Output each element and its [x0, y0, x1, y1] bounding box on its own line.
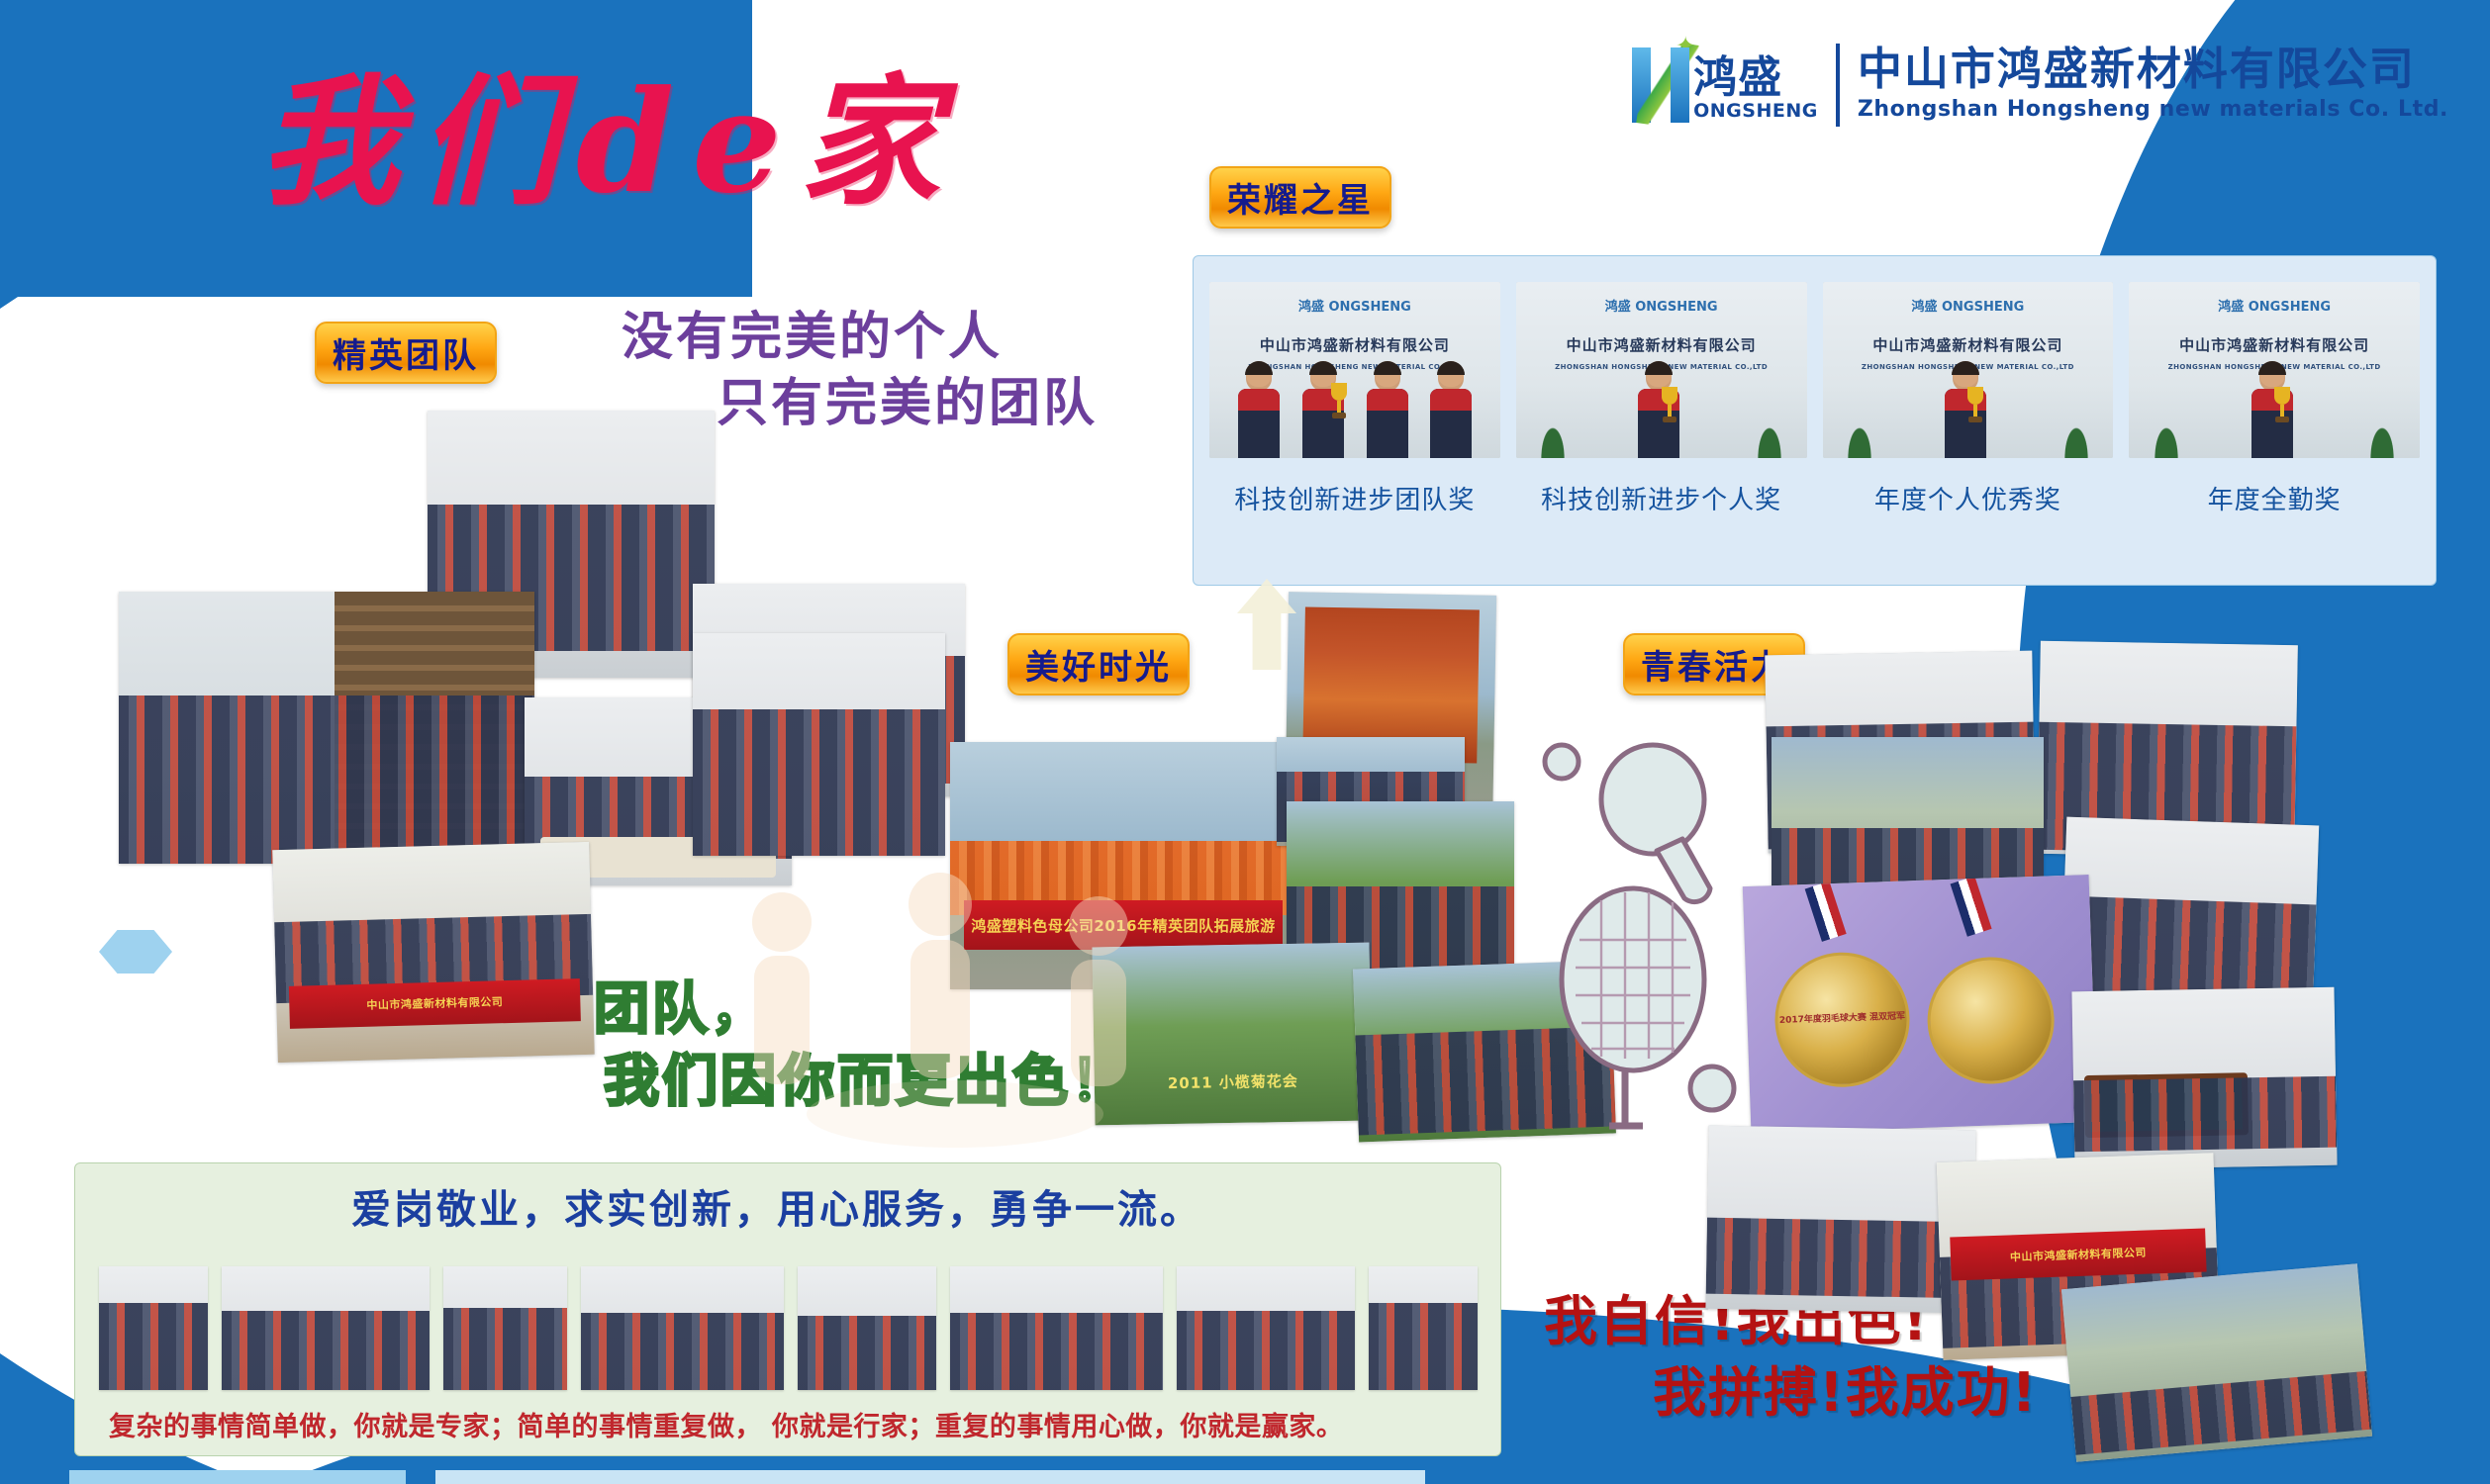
- work-photo-1[interactable]: [222, 1266, 430, 1390]
- trophy-icon: [1662, 387, 1677, 424]
- trophy-icon: [1967, 387, 1983, 424]
- photo-team-group-smile[interactable]: [693, 633, 945, 856]
- company-name-cn: 中山市鸿盛新材料有限公司: [1858, 45, 2448, 94]
- work-photo-6[interactable]: [1177, 1266, 1355, 1390]
- photo-company-banner-group[interactable]: 中山市鸿盛新材料有限公司: [272, 842, 595, 1063]
- work-photo-strip: [99, 1258, 1484, 1397]
- work-photo-0[interactable]: [99, 1266, 208, 1390]
- wall-logo-text: 鸿盛 ONGSHENG: [1605, 296, 1718, 315]
- employee-figure: [1238, 361, 1280, 458]
- photo-group-outdoor-b[interactable]: [1353, 961, 1616, 1143]
- photo-conference-room[interactable]: [1705, 1126, 1975, 1314]
- photo-banner-text: 中山市鸿盛新材料有限公司: [289, 978, 581, 1029]
- wall-company-cn: 中山市鸿盛新材料有限公司: [1260, 334, 1450, 355]
- wall-company-en: ZHONGSHAN HONGSHENG NEW MATERIAL CO.,LTD: [1248, 363, 1461, 371]
- company-logo-block: ✦ 鸿盛 ONGSHENG 中山市鸿盛新材料有限公司 Zhongshan Hon…: [1632, 44, 2448, 127]
- award-photo-1: 鸿盛 ONGSHENG 中山市鸿盛新材料有限公司 ZHONGSHAN HONGS…: [1516, 282, 1807, 458]
- work-photo-2[interactable]: [443, 1266, 567, 1390]
- wall-logo-text: 鸿盛 ONGSHENG: [2218, 296, 2331, 315]
- award-caption-3: 年度全勤奖: [2208, 480, 2342, 516]
- photo-employees-redenvelope[interactable]: [119, 592, 534, 864]
- logo-h-shape-icon: ✦: [1632, 47, 1689, 123]
- hongsheng-logo-icon: ✦ 鸿盛 ONGSHENG: [1632, 47, 1818, 123]
- work-photo-4[interactable]: [798, 1266, 936, 1390]
- honor-award-item-2[interactable]: 鸿盛 ONGSHENG 中山市鸿盛新材料有限公司 ZHONGSHAN HONGS…: [1823, 282, 2114, 585]
- green-quote-line1: 团队，: [594, 977, 769, 1042]
- page-title: 我们de家: [259, 28, 958, 232]
- photo-banner-travel: 鸿盛塑料色母公司2016年精英团队拓展旅游: [964, 900, 1283, 950]
- medal-caption: 2017年度羽毛球大赛 混双冠军: [1779, 1013, 1905, 1027]
- logo-chinese-name: 鸿盛: [1693, 56, 1818, 100]
- photo-outdoor-badminton[interactable]: [2061, 1263, 2372, 1461]
- section-badge-honor-star[interactable]: 荣耀之星: [1209, 166, 1391, 229]
- logo-divider: [1836, 44, 1840, 127]
- bottom-slogan: 爱岗敬业，求实创新，用心服务，勇争一流。: [351, 1177, 1202, 1235]
- section-badge-elite-team[interactable]: 精英团队: [315, 322, 497, 384]
- award-caption-0: 科技创新进步团队奖: [1234, 480, 1475, 516]
- trophy-icon: [2274, 387, 2290, 424]
- award-photo-0: 鸿盛 ONGSHENG 中山市鸿盛新材料有限公司 ZHONGSHAN HONGS…: [1209, 282, 1500, 458]
- bottom-caption: 复杂的事情简单做，你就是专家；简单的事情重复做， 你就是行家；重复的事情用心做，…: [109, 1405, 1343, 1443]
- wall-company-cn: 中山市鸿盛新材料有限公司: [1567, 334, 1757, 355]
- work-photo-5[interactable]: [950, 1266, 1163, 1390]
- award-caption-2: 年度个人优秀奖: [1874, 480, 2061, 516]
- photo-billiards-room[interactable]: [2071, 987, 2337, 1170]
- logo-english-name: ONGSHENG: [1693, 100, 1818, 123]
- wall-company-cn: 中山市鸿盛新材料有限公司: [2179, 334, 2369, 355]
- work-photo-3[interactable]: [581, 1266, 784, 1390]
- honor-star-panel: 鸿盛 ONGSHENG 中山市鸿盛新材料有限公司 ZHONGSHAN HONGS…: [1193, 255, 2437, 586]
- photo-flower-show[interactable]: 2011 小榄菊花会: [1092, 943, 1372, 1126]
- wall-company-cn: 中山市鸿盛新材料有限公司: [1872, 334, 2062, 355]
- green-quote: 团队， 我们因你而更出色！: [594, 974, 1129, 1119]
- award-photo-2: 鸿盛 ONGSHENG 中山市鸿盛新材料有限公司 ZHONGSHAN HONGS…: [1823, 282, 2114, 458]
- red-quote-line2: 我拼搏!我成功!: [1544, 1357, 2038, 1429]
- bottom-strip-accent-2: [435, 1470, 1425, 1484]
- wall-logo-text: 鸿盛 ONGSHENG: [1911, 296, 2024, 315]
- employee-figure: [1367, 361, 1408, 458]
- flower-show-text: 2011 小榄菊花会: [1094, 1039, 1372, 1126]
- honor-award-row: 鸿盛 ONGSHENG 中山市鸿盛新材料有限公司 ZHONGSHAN HONGS…: [1194, 256, 2436, 585]
- award-caption-1: 科技创新进步个人奖: [1541, 480, 1781, 516]
- bottom-strip-accent-1: [69, 1470, 406, 1484]
- company-name-en: Zhongshan Hongsheng new materials Co. Lt…: [1858, 93, 2448, 126]
- employee-figure: [1430, 361, 1472, 458]
- honor-award-item-1[interactable]: 鸿盛 ONGSHENG 中山市鸿盛新材料有限公司 ZHONGSHAN HONGS…: [1516, 282, 1807, 585]
- photo-banner-bottom: 中山市鸿盛新材料有限公司: [1950, 1229, 2206, 1281]
- wall-logo-text: 鸿盛 ONGSHENG: [1298, 296, 1411, 315]
- logo-sparkle-icon: ✦: [1676, 34, 1695, 57]
- honor-award-item-0[interactable]: 鸿盛 ONGSHENG 中山市鸿盛新材料有限公司 ZHONGSHAN HONGS…: [1209, 282, 1500, 585]
- photo-medals[interactable]: 2017年度羽毛球大赛 混双冠军: [1743, 875, 2098, 1134]
- poster-root: 我们de家 ✦ 鸿盛 ONGSHENG 中山市鸿盛新材料有限公司 Zhongsh…: [0, 0, 2490, 1484]
- trophy-icon: [1331, 383, 1347, 420]
- team-quote-line1: 没有完美的个人: [622, 308, 1003, 367]
- green-quote-line2: 我们因你而更出色！: [594, 1047, 1129, 1119]
- honor-award-item-3[interactable]: 鸿盛 ONGSHENG 中山市鸿盛新材料有限公司 ZHONGSHAN HONGS…: [2129, 282, 2420, 585]
- section-badge-good-times[interactable]: 美好时光: [1007, 633, 1190, 696]
- photo-indoor-activity[interactable]: [2060, 817, 2319, 1014]
- work-photo-7[interactable]: [1369, 1266, 1478, 1390]
- award-photo-3: 鸿盛 ONGSHENG 中山市鸿盛新材料有限公司 ZHONGSHAN HONGS…: [2129, 282, 2420, 458]
